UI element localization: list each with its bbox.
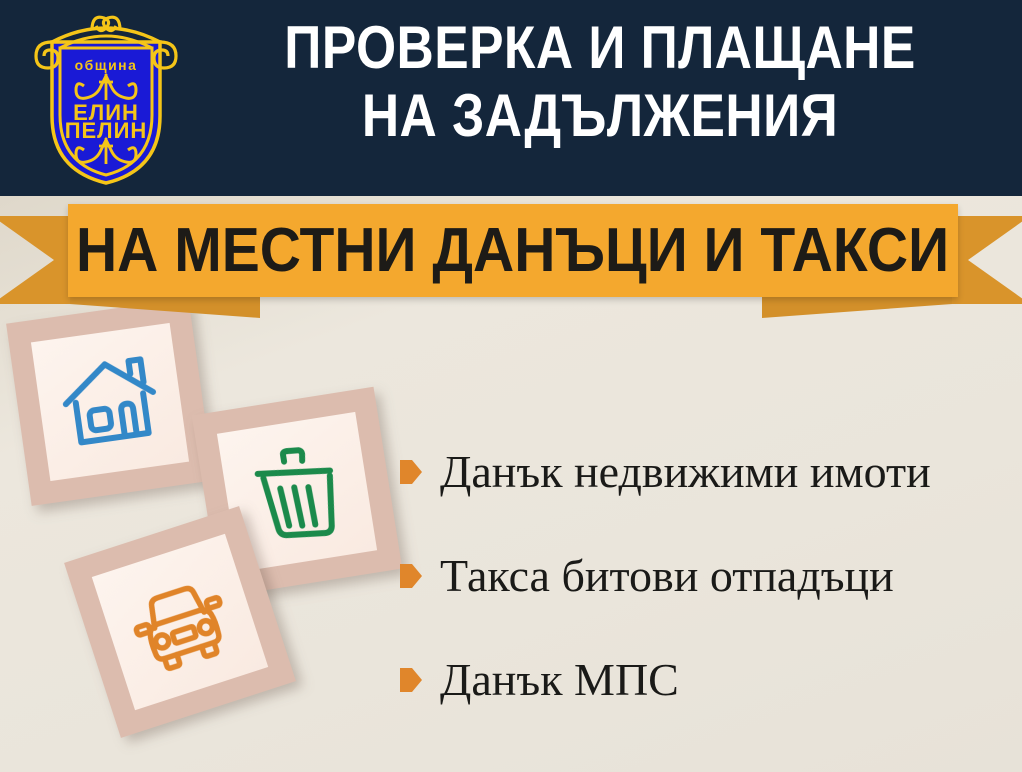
subtitle-ribbon: НА МЕСТНИ ДАНЪЦИ И ТАКСИ — [0, 196, 1022, 311]
list-item-label: Такса битови отпадъци — [440, 550, 894, 602]
car-icon — [114, 556, 245, 687]
emblem-text-pelin: ПЕЛИН — [65, 118, 148, 143]
stamp-card-property — [6, 298, 214, 506]
coat-of-arms-icon: община ЕЛИН ПЕЛИН — [26, 8, 186, 188]
ribbon-label: НА МЕСТНИ ДАНЪЦИ И ТАКСИ — [76, 220, 949, 282]
header-bar: община ЕЛИН ПЕЛИН ПРОВЕРКА И ПЛАЩАНЕ НА … — [0, 0, 1022, 196]
ribbon-plate: НА МЕСТНИ ДАНЪЦИ И ТАКСИ — [68, 204, 958, 297]
stamp-card-group — [0, 300, 420, 772]
list-item-label: Данък недвижими имоти — [440, 446, 931, 498]
house-icon — [51, 343, 168, 460]
stamp-paper — [31, 323, 189, 481]
title-line-2: НА ЗАДЪЛЖЕНИЯ — [247, 82, 952, 150]
page-title: ПРОВЕРКА И ПЛАЩАНЕ НА ЗАДЪЛЖЕНИЯ — [190, 14, 1010, 150]
emblem-text-obshtina: община — [75, 57, 138, 73]
list-item[interactable]: Такса битови отпадъци — [400, 524, 1010, 628]
arrow-bullet-icon — [400, 460, 422, 484]
arrow-bullet-icon — [400, 564, 422, 588]
arrow-bullet-icon — [400, 668, 422, 692]
poster-canvas: община ЕЛИН ПЕЛИН ПРОВЕРКА И ПЛАЩАНЕ НА … — [0, 0, 1022, 772]
title-line-1: ПРОВЕРКА И ПЛАЩАНЕ — [247, 14, 952, 82]
stamp-paper — [92, 534, 268, 710]
trash-can-icon — [238, 433, 357, 552]
tax-type-list: Данък недвижими имоти Такса битови отпад… — [400, 420, 1010, 732]
list-item-label: Данък МПС — [440, 654, 679, 706]
list-item[interactable]: Данък недвижими имоти — [400, 420, 1010, 524]
list-item[interactable]: Данък МПС — [400, 628, 1010, 732]
